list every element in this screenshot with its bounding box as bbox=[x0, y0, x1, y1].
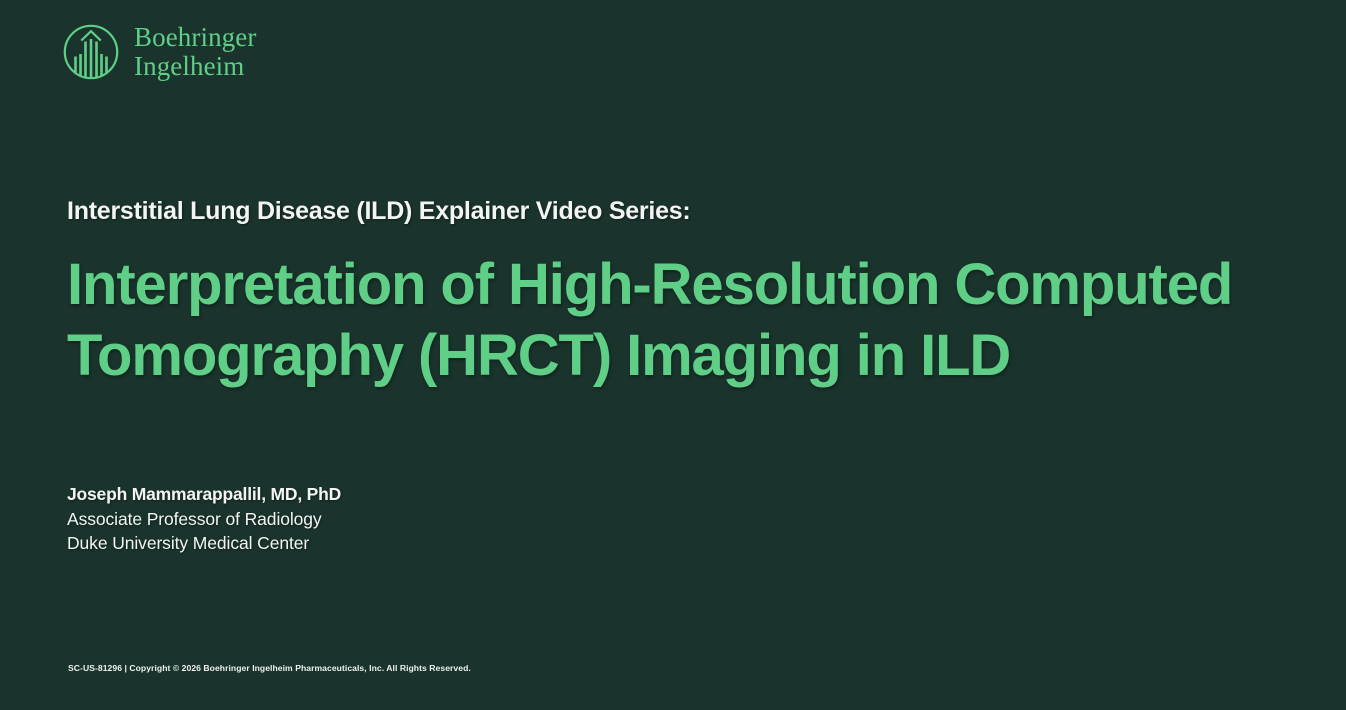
presenter-role: Associate Professor of Radiology bbox=[67, 507, 341, 532]
brand-logo: Boehringer Ingelheim bbox=[62, 22, 256, 81]
boehringer-ingelheim-mark-icon bbox=[62, 23, 120, 81]
presenter-affiliation: Duke University Medical Center bbox=[67, 531, 341, 556]
brand-wordmark: Boehringer Ingelheim bbox=[134, 22, 256, 81]
page-title: Interpretation of High-Resolution Comput… bbox=[67, 249, 1282, 393]
brand-wordmark-line1: Boehringer bbox=[134, 23, 256, 52]
series-eyebrow: Interstitial Lung Disease (ILD) Explaine… bbox=[67, 196, 1287, 227]
legal-footer: SC-US-81296 | Copyright © 2026 Boehringe… bbox=[68, 663, 471, 673]
title-slide: Boehringer Ingelheim Interstitial Lung D… bbox=[0, 0, 1346, 710]
presenter-name: Joseph Mammarappallil, MD, PhD bbox=[67, 482, 341, 507]
headline-block: Interstitial Lung Disease (ILD) Explaine… bbox=[67, 196, 1287, 392]
brand-wordmark-line2: Ingelheim bbox=[134, 52, 256, 81]
presenter-block: Joseph Mammarappallil, MD, PhD Associate… bbox=[67, 482, 341, 556]
